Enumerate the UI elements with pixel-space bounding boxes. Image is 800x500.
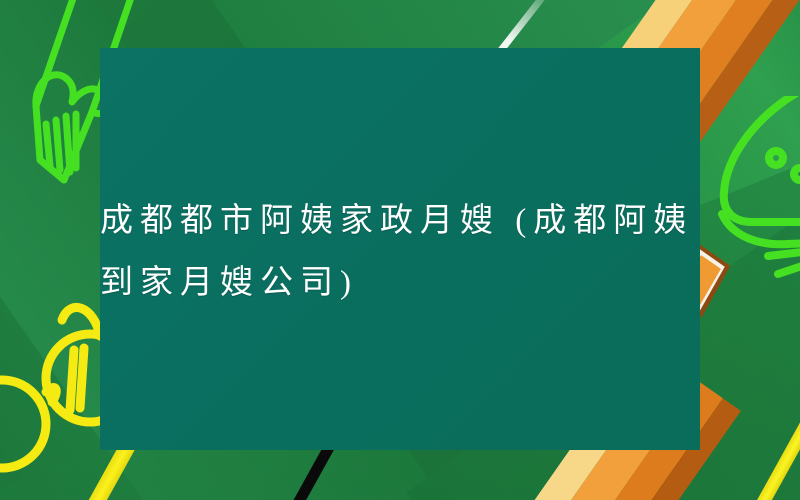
banner-image: 成都都市阿姨家政月嫂 (成都阿姨到家月嫂公司)	[0, 0, 800, 500]
page-title: 成都都市阿姨家政月嫂 (成都阿姨到家月嫂公司)	[100, 190, 720, 314]
